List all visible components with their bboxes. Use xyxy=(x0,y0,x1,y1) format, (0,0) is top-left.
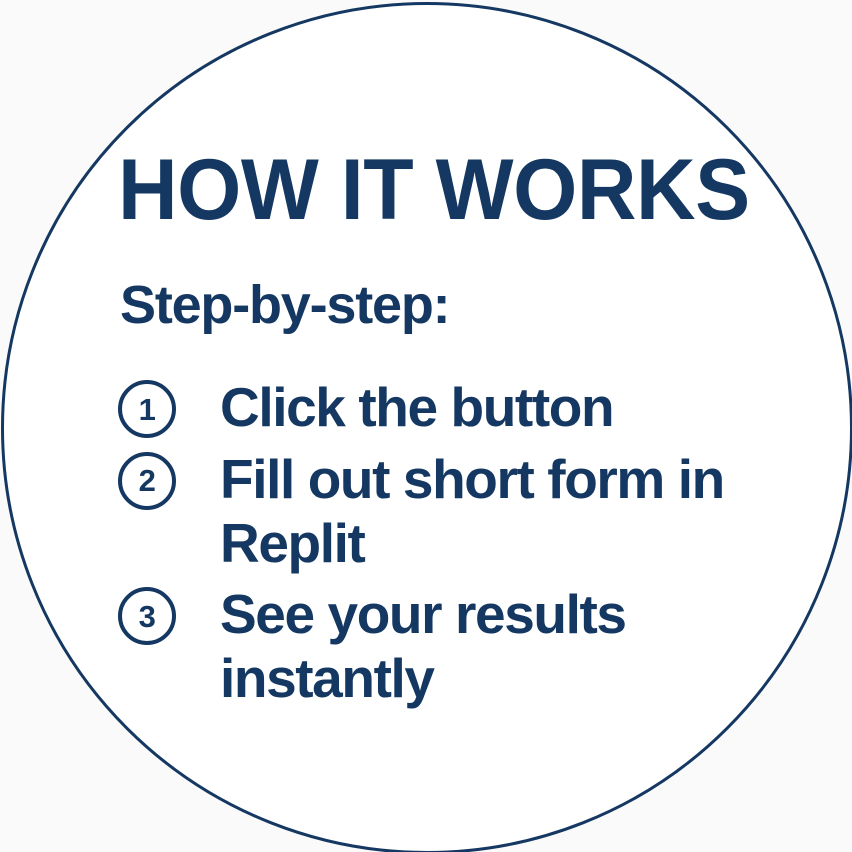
steps-list: 1 Click the button 2 Fill out short form… xyxy=(118,376,818,719)
step-text: Fill out short form in Replit xyxy=(220,448,724,576)
step-text: Click the button xyxy=(220,376,613,440)
step-number-circle-icon: 1 xyxy=(118,380,176,438)
step-text: See your results instantly xyxy=(220,583,626,711)
step-number-label: 3 xyxy=(139,601,156,632)
step-number-label: 1 xyxy=(139,394,156,425)
step-text-line: See your results xyxy=(220,583,626,647)
list-item: 3 See your results instantly xyxy=(118,583,818,711)
step-text-line: Replit xyxy=(220,512,724,576)
list-item: 2 Fill out short form in Replit xyxy=(118,448,818,576)
step-number-circle-icon: 3 xyxy=(118,587,176,645)
subtitle: Step-by-step: xyxy=(120,278,449,332)
badge-content: HOW IT WORKS Step-by-step: 1 Click the b… xyxy=(0,0,852,852)
step-text-line: Click the button xyxy=(220,376,613,440)
step-number-circle-icon: 2 xyxy=(118,452,176,510)
step-text-line: instantly xyxy=(220,647,626,711)
list-item: 1 Click the button xyxy=(118,376,818,440)
step-number-label: 2 xyxy=(139,465,156,496)
page-title: HOW IT WORKS xyxy=(118,147,750,233)
step-text-line: Fill out short form in xyxy=(220,448,724,512)
how-it-works-graphic: HOW IT WORKS Step-by-step: 1 Click the b… xyxy=(0,0,852,852)
